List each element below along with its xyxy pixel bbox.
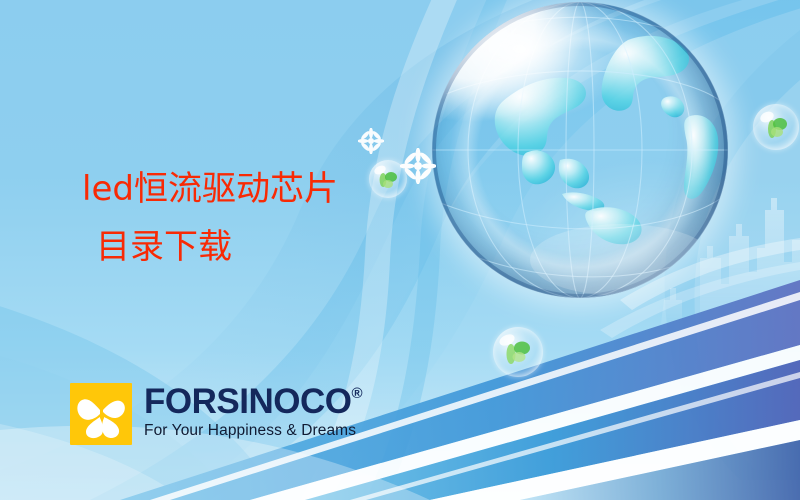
headline-line-2: 目录下载	[96, 218, 412, 276]
globe-halo	[416, 0, 746, 318]
brand-tagline: For Your Happiness & Dreams	[144, 421, 362, 440]
brand-logo: FORSINOCO ® For Your Happiness & Dreams	[70, 383, 362, 445]
bubble-green-sprout-top-right	[753, 104, 799, 150]
registered-trademark-icon: ®	[351, 385, 362, 402]
globe-graphic	[432, 2, 728, 302]
brand-name-row: FORSINOCO ®	[144, 383, 362, 420]
starburst-sparkle-small	[358, 128, 384, 154]
brand-text: FORSINOCO ® For Your Happiness & Dreams	[144, 383, 362, 440]
brand-name: FORSINOCO	[144, 383, 351, 420]
page-title: led恒流驱动芯片 目录下载	[82, 160, 412, 276]
headline-line-1: led恒流驱动芯片	[82, 160, 412, 218]
bubble-green-sprout-bottom	[493, 327, 543, 377]
promo-banner: led恒流驱动芯片 目录下载 FORSINOCO ® For Your Happ…	[0, 0, 800, 500]
four-petal-pinwheel-icon	[70, 383, 132, 445]
